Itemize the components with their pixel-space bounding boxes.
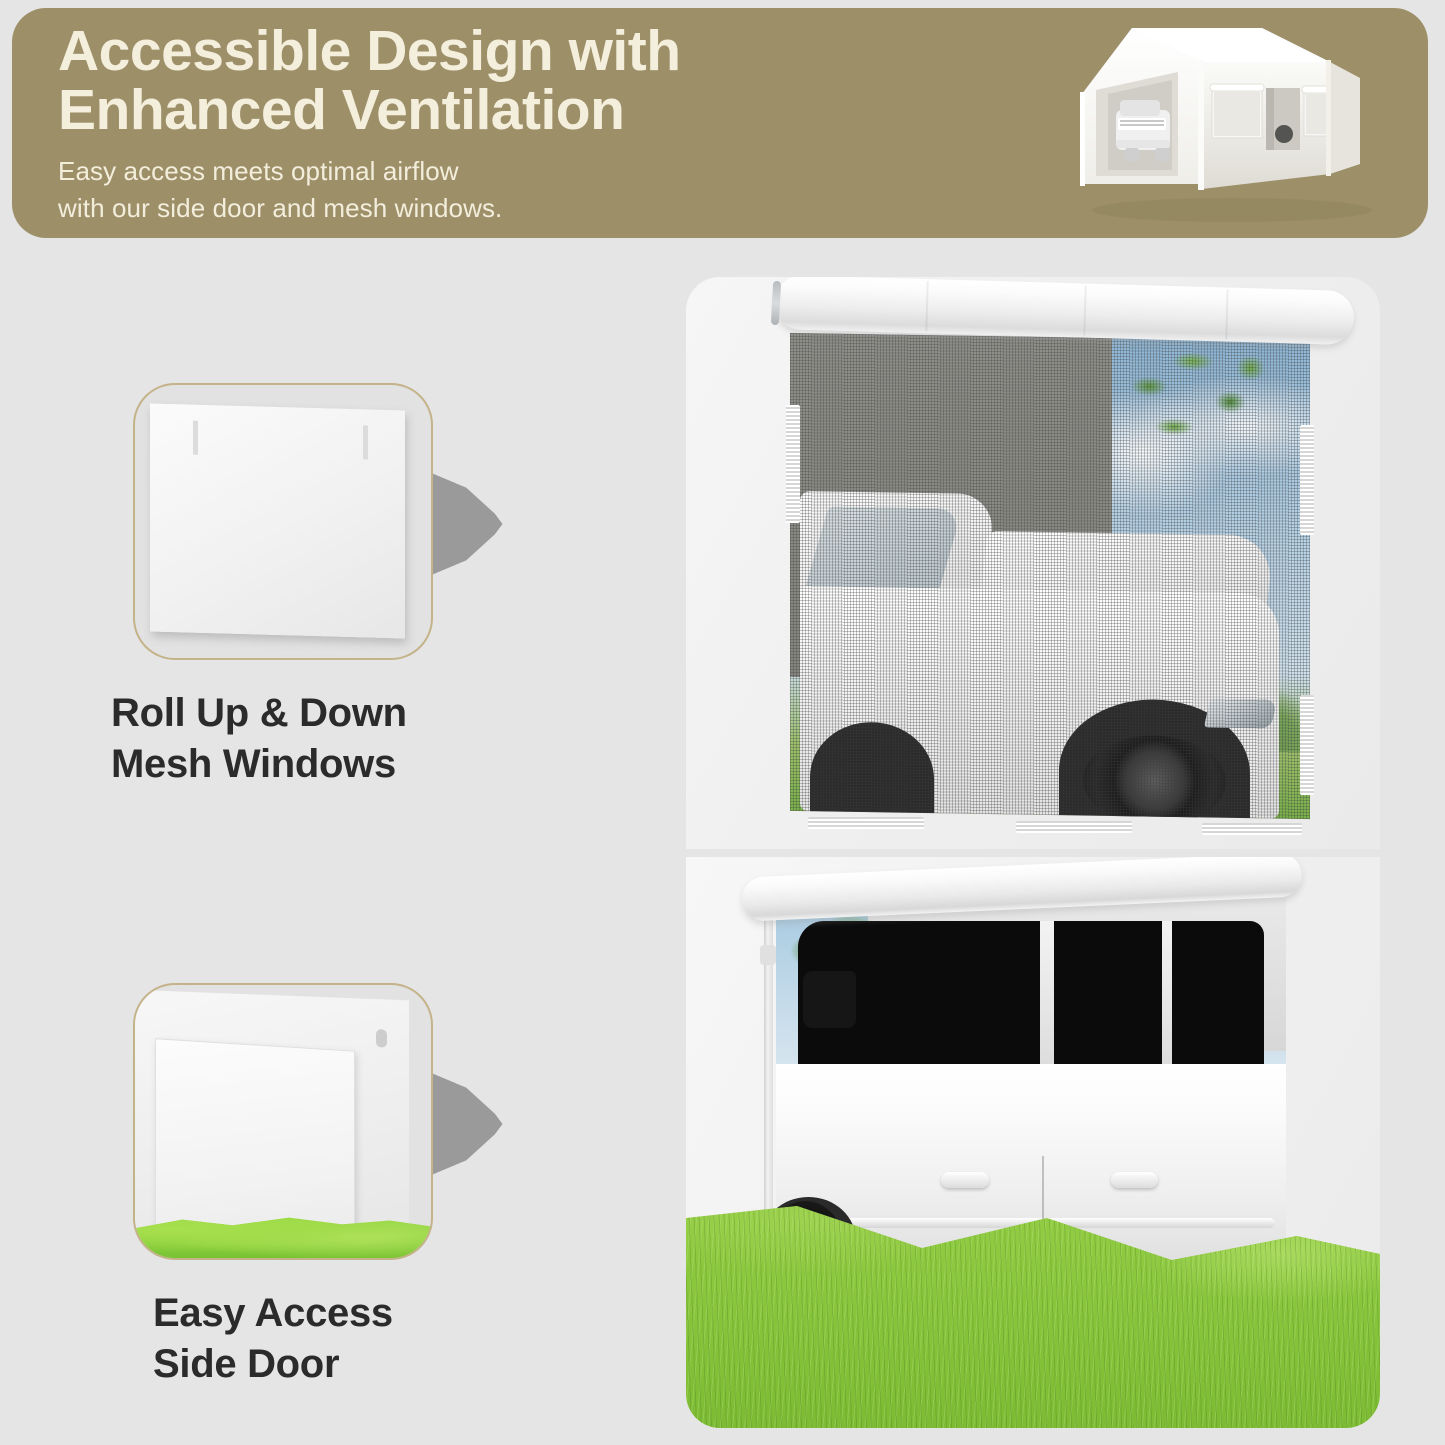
velcro-strip-right-upper xyxy=(1300,425,1314,535)
callout-label-door: Easy Access Side Door xyxy=(153,1288,393,1390)
carport-product-image xyxy=(1012,14,1412,234)
header-text-block: Accessible Design with Enhanced Ventilat… xyxy=(58,22,878,227)
window-tab-right-icon xyxy=(363,425,368,459)
banner-title-line-1: Accessible Design with xyxy=(58,22,878,81)
velcro-strip-left-upper xyxy=(786,405,800,523)
truck-front-door-handle xyxy=(941,1172,989,1188)
header-banner: Accessible Design with Enhanced Ventilat… xyxy=(12,8,1428,238)
velcro-strip-bottom-right xyxy=(1202,823,1302,835)
callout-label-mesh: Roll Up & Down Mesh Windows xyxy=(111,688,407,790)
door-latch-icon xyxy=(376,1029,387,1047)
truck-headlight xyxy=(1204,698,1277,728)
rolled-down-window-panel xyxy=(150,403,405,638)
door-clip-icon xyxy=(760,945,776,965)
white-pickup-truck xyxy=(776,913,1286,1272)
side-door-photo xyxy=(686,857,1380,1428)
mesh-window-opening xyxy=(790,333,1310,819)
truck-body xyxy=(800,586,1278,819)
callout-label-door-line-2: Side Door xyxy=(153,1339,393,1390)
truck-side-mirror xyxy=(803,971,856,1028)
velcro-strip-bottom-mid xyxy=(1016,821,1132,833)
callout-side-door: Easy Access Side Door xyxy=(133,983,433,1260)
truck-rear-wheel-arch xyxy=(810,721,934,813)
side-door-thumbnail xyxy=(133,983,433,1260)
mesh-window-photo xyxy=(686,277,1380,849)
callout-label-door-line-1: Easy Access xyxy=(153,1288,393,1339)
closed-side-door-panel xyxy=(155,1038,355,1241)
infographic-page: Accessible Design with Enhanced Ventilat… xyxy=(0,0,1445,1445)
banner-subtitle-line-1: Easy access meets optimal airflow xyxy=(58,153,878,190)
mesh-window-thumbnail xyxy=(133,383,433,660)
canopy-side-wall xyxy=(133,990,409,1251)
truck-b-pillar xyxy=(1040,921,1054,1072)
callout-label-mesh-line-2: Mesh Windows xyxy=(111,739,407,790)
velcro-strip-right-lower xyxy=(1300,695,1314,795)
banner-subtitle: Easy access meets optimal airflow with o… xyxy=(58,153,878,227)
truck-rear-door-handle xyxy=(1111,1172,1159,1188)
window-tab-left-icon xyxy=(193,421,198,455)
banner-subtitle-line-2: with our side door and mesh windows. xyxy=(58,190,878,227)
callout-label-mesh-line-1: Roll Up & Down xyxy=(111,688,407,739)
white-pickup-truck xyxy=(800,448,1278,819)
velcro-strip-bottom-left xyxy=(808,817,924,829)
truck-c-pillar xyxy=(1162,921,1172,1072)
truck-window-glass xyxy=(798,921,1265,1072)
banner-title-line-2: Enhanced Ventilation xyxy=(58,81,878,140)
callout-mesh-window: Roll Up & Down Mesh Windows xyxy=(133,383,433,660)
